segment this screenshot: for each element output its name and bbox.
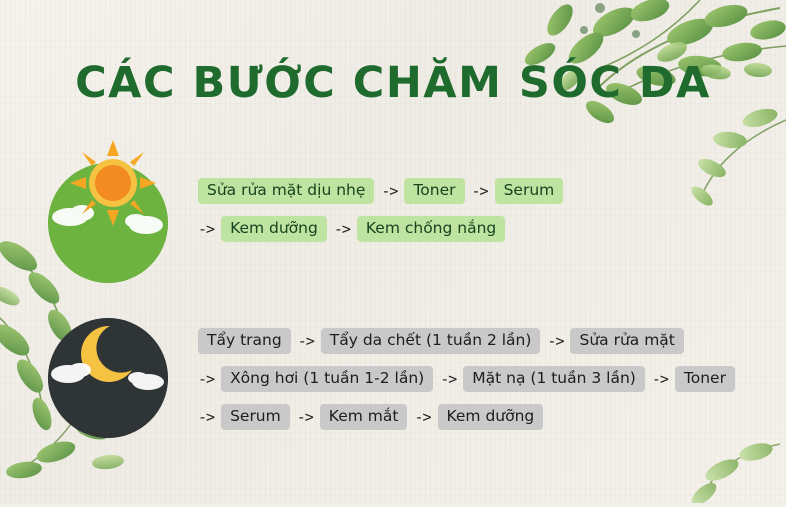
step-chip[interactable]: Toner	[404, 178, 464, 204]
arrow-icon: ->	[198, 220, 214, 238]
step-chip[interactable]: Tẩy da chết (1 tuần 2 lần)	[321, 328, 541, 354]
page-title: CÁC BƯỚC CHĂM SÓC DA	[0, 58, 786, 108]
step-chip[interactable]: Kem dưỡng	[221, 216, 327, 242]
arrow-icon: ->	[440, 370, 456, 388]
steps-morning: Sửa rửa mặt dịu nhẹ -> Toner -> Serum ->…	[198, 178, 758, 254]
step-chip[interactable]: Sửa rửa mặt	[570, 328, 683, 354]
step-chip[interactable]: Kem chống nắng	[357, 216, 505, 242]
step-chip[interactable]: Kem dưỡng	[438, 404, 544, 430]
arrow-icon: ->	[297, 408, 313, 426]
step-chip[interactable]: Xông hơi (1 tuần 1-2 lần)	[221, 366, 433, 392]
step-chip[interactable]: Mặt nạ (1 tuần 3 lần)	[463, 366, 645, 392]
arrow-icon: ->	[298, 332, 314, 350]
step-row: Tẩy trang -> Tẩy da chết (1 tuần 2 lần) …	[198, 328, 778, 354]
step-row: -> Kem dưỡng -> Kem chống nắng	[198, 216, 758, 242]
arrow-icon: ->	[547, 332, 563, 350]
step-chip[interactable]: Toner	[675, 366, 735, 392]
moon-icon	[48, 318, 168, 438]
arrow-icon: ->	[198, 408, 214, 426]
sun-icon	[70, 140, 156, 226]
arrow-icon: ->	[472, 182, 488, 200]
step-chip[interactable]: Kem mắt	[320, 404, 408, 430]
badge-night: BUỔI TỐI	[48, 318, 168, 438]
arrow-icon: ->	[414, 408, 430, 426]
arrow-icon: ->	[198, 370, 214, 388]
arrow-icon: ->	[652, 370, 668, 388]
step-row: Sửa rửa mặt dịu nhẹ -> Toner -> Serum	[198, 178, 758, 204]
step-chip[interactable]: Sửa rửa mặt dịu nhẹ	[198, 178, 374, 204]
step-chip[interactable]: Serum	[221, 404, 290, 430]
step-chip[interactable]: Serum	[495, 178, 564, 204]
arrow-icon: ->	[381, 182, 397, 200]
arrow-icon: ->	[334, 220, 350, 238]
step-chip[interactable]: Tẩy trang	[198, 328, 291, 354]
step-row: -> Xông hơi (1 tuần 1-2 lần) -> Mặt nạ (…	[198, 366, 778, 392]
steps-night: Tẩy trang -> Tẩy da chết (1 tuần 2 lần) …	[198, 328, 778, 442]
step-row: -> Serum -> Kem mắt -> Kem dưỡng	[198, 404, 778, 430]
